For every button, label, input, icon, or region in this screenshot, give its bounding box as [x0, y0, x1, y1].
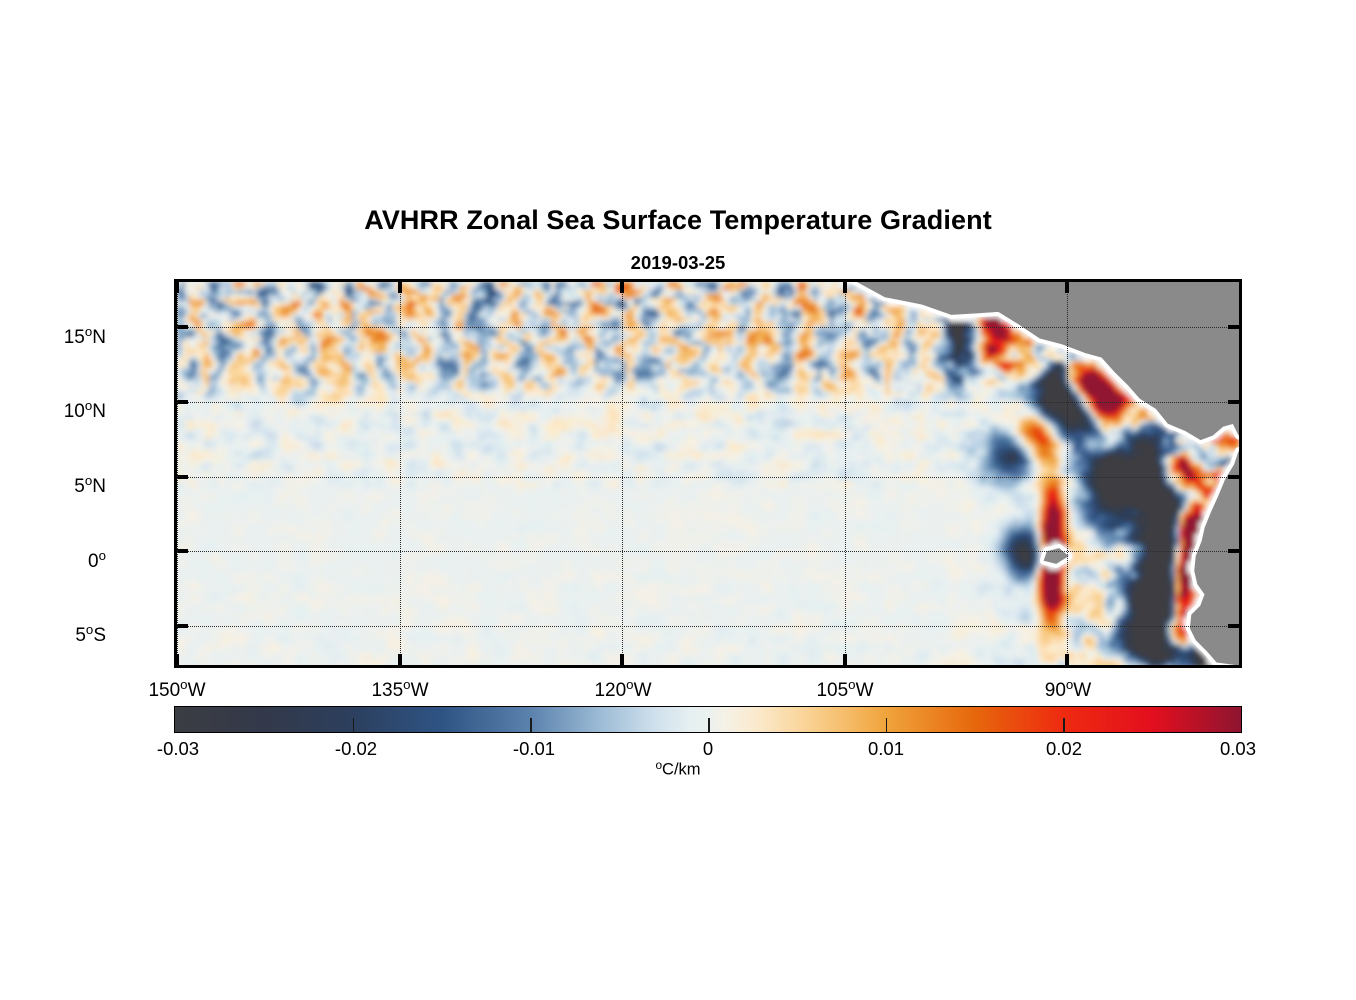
colorbar-tick-label-2: -0.01: [513, 738, 555, 760]
ytick-label-5s: 5oS: [75, 623, 106, 645]
map-axes: [174, 279, 1242, 668]
axis-tick: [398, 654, 402, 665]
chart-title: AVHRR Zonal Sea Surface Temperature Grad…: [0, 205, 1356, 236]
colorbar-unit-label: oC/km: [0, 760, 1356, 779]
colorbar-tick-label-5: 0.02: [1046, 738, 1082, 760]
axis-tick: [620, 654, 624, 665]
colorbar-tick-label-3: 0: [703, 738, 713, 760]
xtick-label-150w: 150oW: [148, 678, 205, 700]
colorbar-tick-label-1: -0.02: [335, 738, 377, 760]
figure-canvas: AVHRR Zonal Sea Surface Temperature Grad…: [0, 0, 1356, 1000]
colorbar-tick-label-4: 0.01: [868, 738, 904, 760]
ytick-label-10n: 10oN: [64, 399, 106, 421]
xtick-label-120w: 120oW: [594, 678, 651, 700]
axis-tick: [175, 654, 179, 665]
colorbar-tick: [886, 718, 888, 733]
colorbar-tick: [530, 718, 532, 733]
colorbar-tick: [353, 718, 355, 733]
axis-tick: [843, 654, 847, 665]
axis-tick: [1228, 475, 1239, 479]
axis-tick: [177, 549, 188, 553]
axis-tick: [1228, 549, 1239, 553]
colorbar-tick-label-6: 0.03: [1220, 738, 1256, 760]
axis-tick: [1228, 400, 1239, 404]
ytick-label-0: 0o: [88, 549, 106, 571]
axis-tick: [177, 325, 188, 329]
xtick-label-105w: 105oW: [816, 678, 873, 700]
colorbar: [174, 706, 1242, 733]
axis-tick: [1228, 624, 1239, 628]
axis-tick: [398, 282, 402, 293]
axis-tick: [177, 624, 188, 628]
xtick-label-90w: 90oW: [1045, 678, 1091, 700]
xtick-label-135w: 135oW: [371, 678, 428, 700]
axis-tick: [1065, 654, 1069, 665]
colorbar-tick-label-0: -0.03: [157, 738, 199, 760]
sst-gradient-heatmap: [177, 282, 1239, 665]
chart-subtitle: 2019-03-25: [0, 252, 1356, 274]
axis-tick: [1228, 325, 1239, 329]
axis-tick: [843, 282, 847, 293]
axis-tick: [620, 282, 624, 293]
ytick-label-5n: 5oN: [74, 474, 106, 496]
axis-tick: [177, 475, 188, 479]
colorbar-tick: [708, 718, 710, 733]
ytick-label-15n: 15oN: [64, 325, 106, 347]
colorbar-tick: [1063, 718, 1065, 733]
axis-tick: [1065, 282, 1069, 293]
axis-tick: [177, 400, 188, 404]
axis-tick: [175, 282, 179, 293]
